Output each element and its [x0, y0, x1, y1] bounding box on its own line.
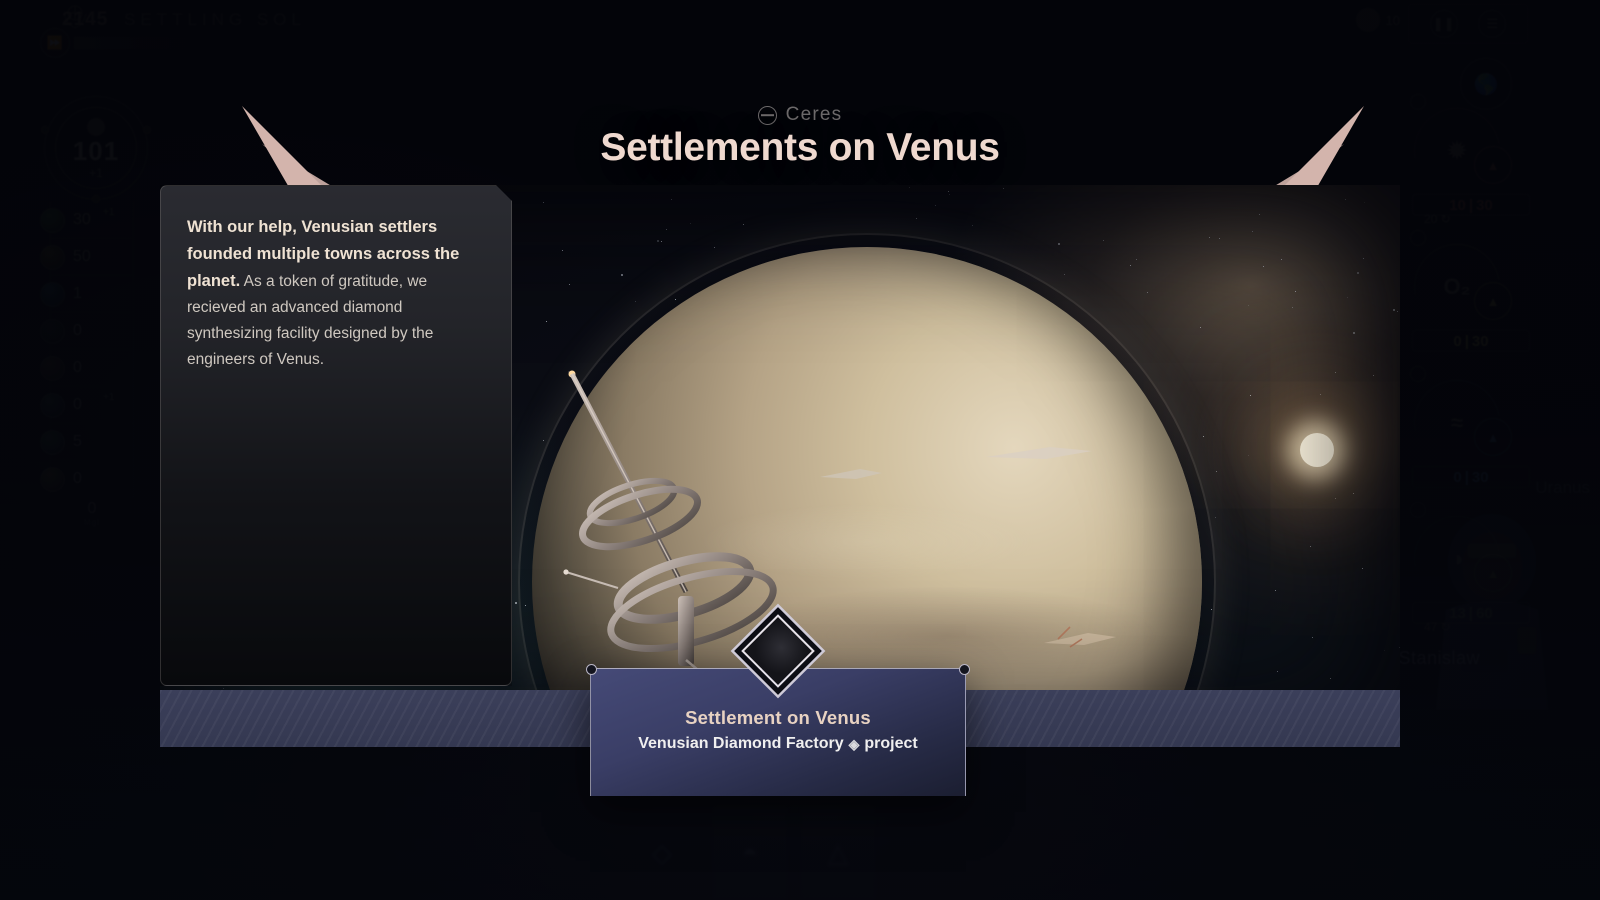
card-corner-dot-right [959, 664, 970, 675]
diamond-factory-icon: ◈ [849, 736, 860, 753]
game-screen: 2145 SETTLING SOL ⏩ 101 +1 30+ [0, 0, 1600, 900]
settlement-info-card[interactable]: Settlement on Venus Venusian Diamond Fac… [590, 668, 966, 796]
card-title: Settlement on Venus [591, 707, 965, 729]
card-corner-dot-left [586, 664, 597, 675]
page-title: Settlements on Venus [0, 126, 1600, 170]
card-subtitle-suffix: project [864, 735, 917, 753]
ceres-glyph-icon [758, 106, 777, 125]
card-subtitle-prefix: Venusian Diamond Factory [638, 735, 843, 753]
breadcrumb[interactable]: Ceres [0, 104, 1600, 126]
breadcrumb-label: Ceres [786, 104, 843, 126]
description-panel: With our help, Venusian settlers founded… [160, 185, 512, 686]
description-text: With our help, Venusian settlers founded… [187, 214, 485, 373]
card-subtitle: Venusian Diamond Factory ◈ project [591, 735, 965, 753]
